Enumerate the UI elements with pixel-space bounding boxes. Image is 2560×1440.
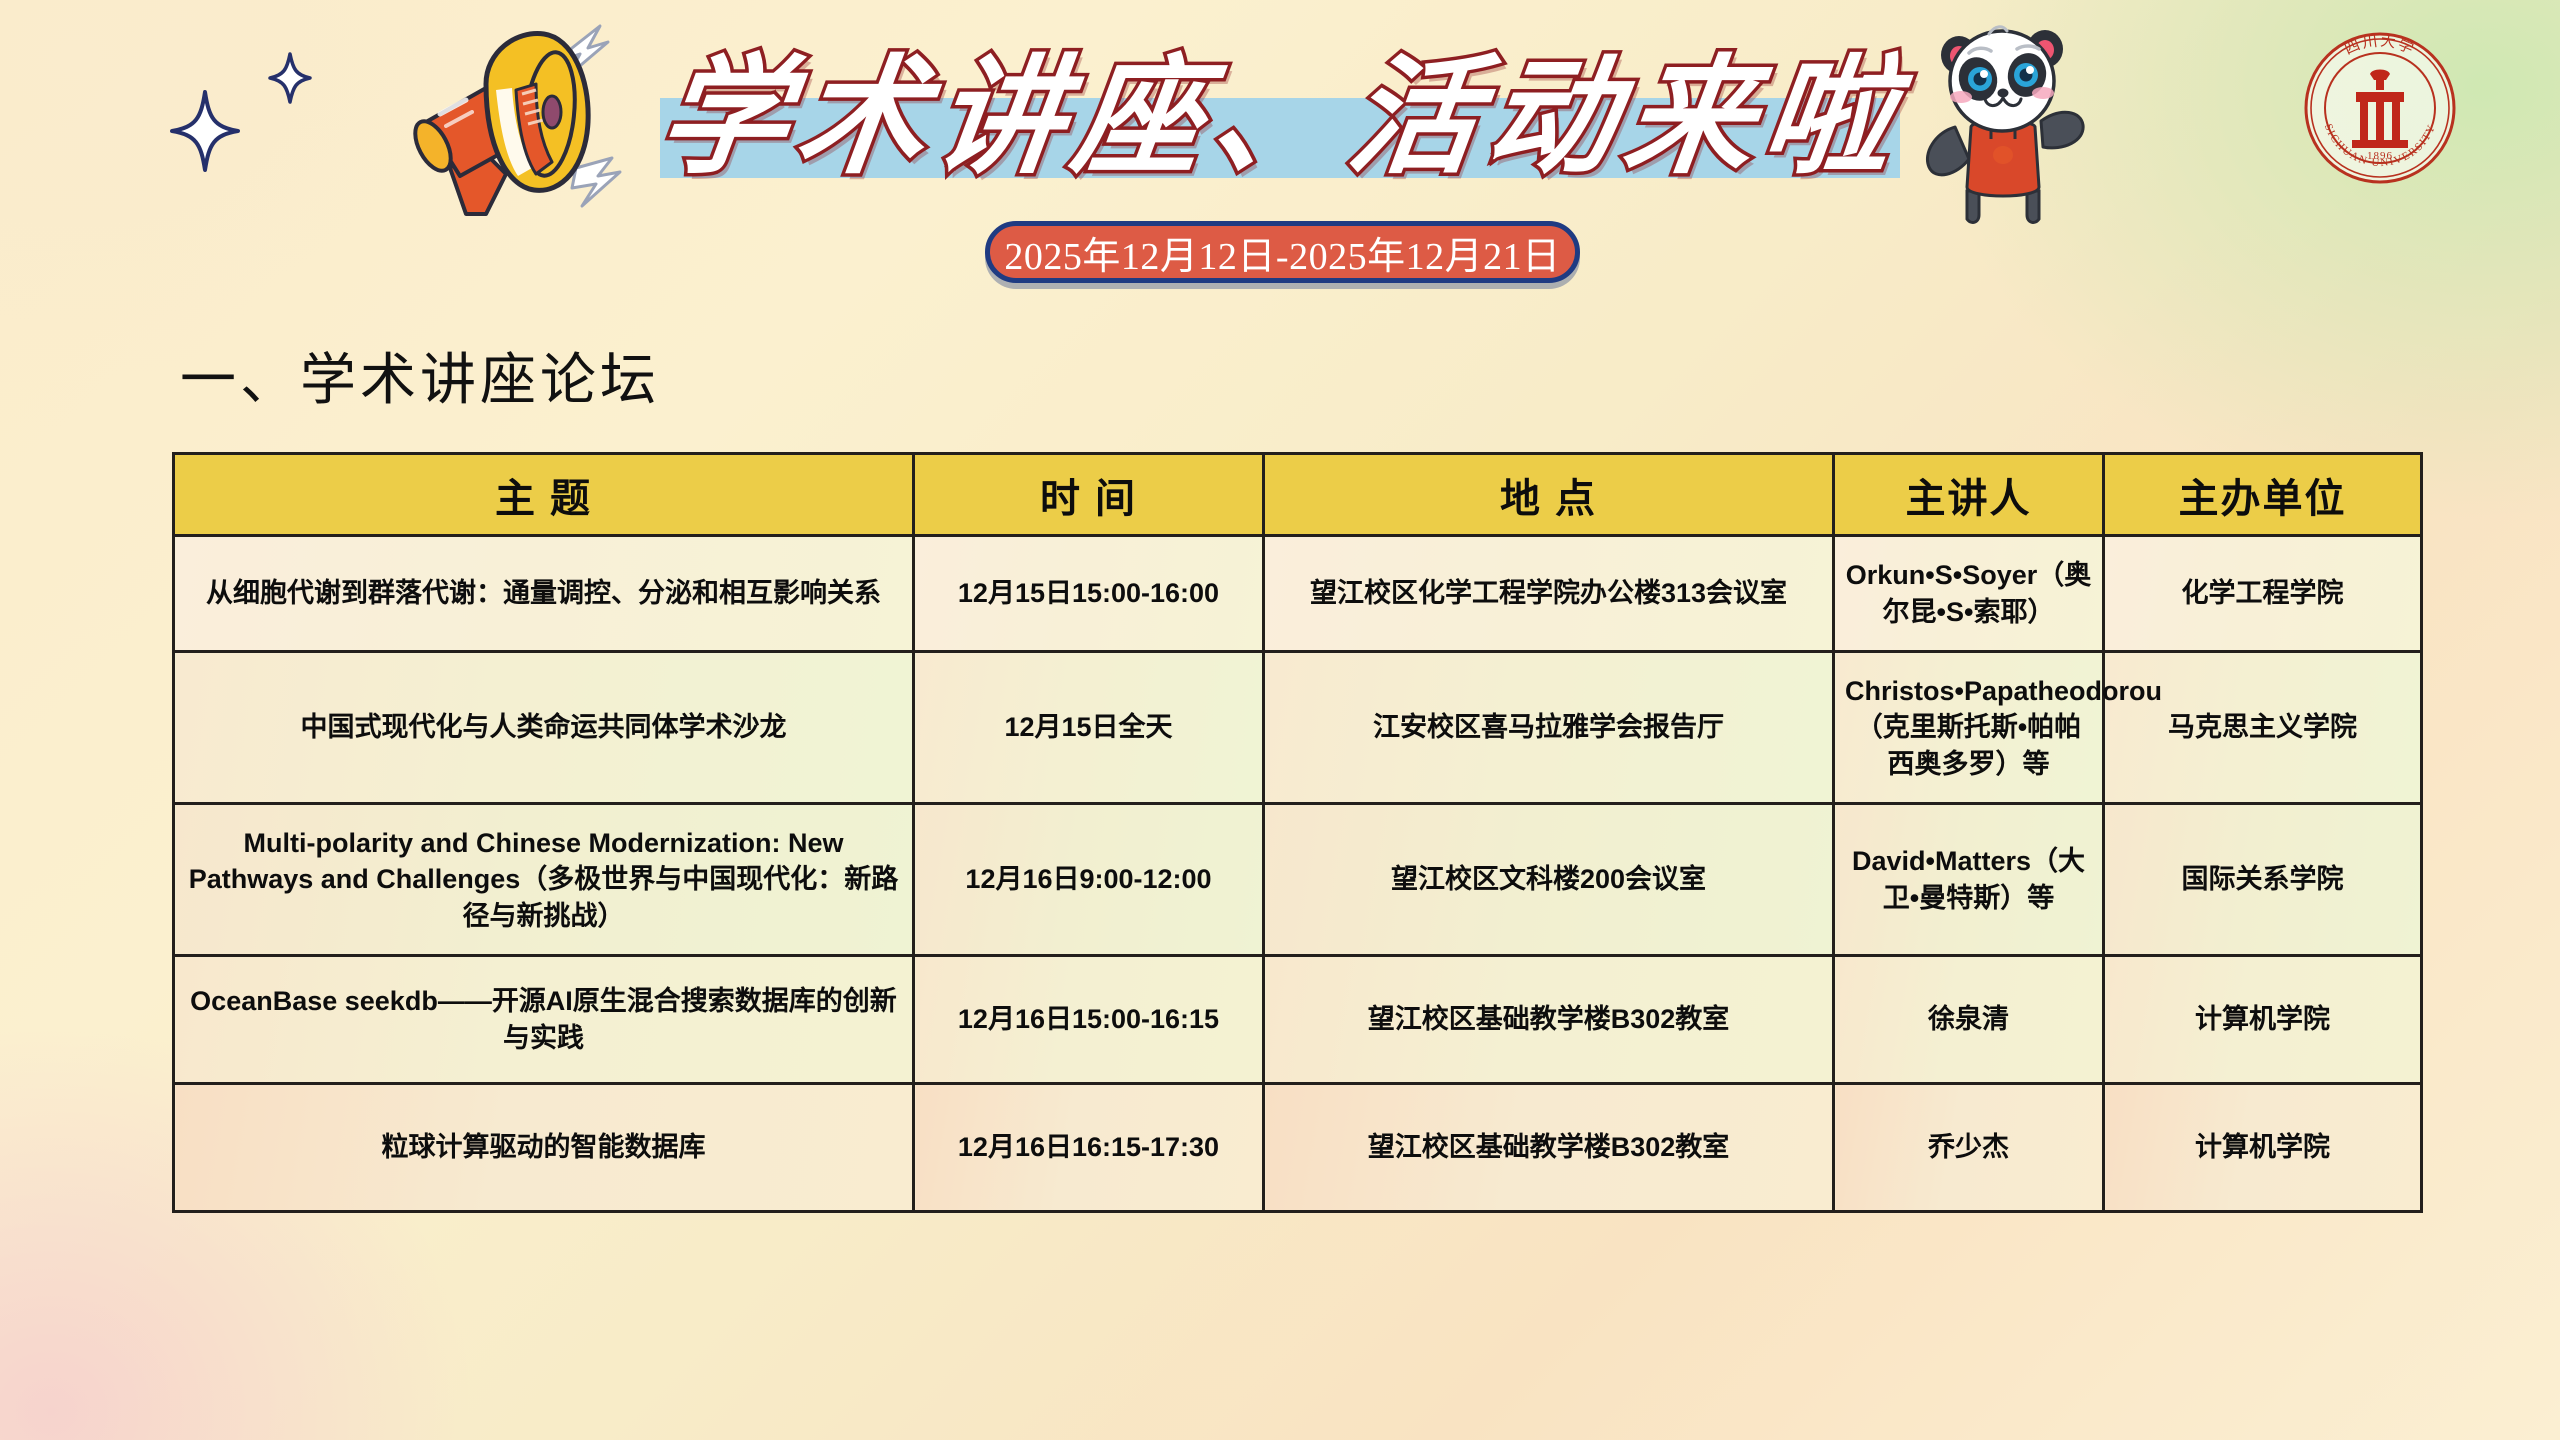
- cell-topic: 粒球计算驱动的智能数据库: [174, 1084, 914, 1212]
- cell-speaker: 徐泉清: [1834, 956, 2104, 1084]
- cell-speaker: David•Matters（大卫•曼特斯）等: [1834, 804, 2104, 956]
- cell-host: 化学工程学院: [2104, 536, 2422, 652]
- cell-host: 马克思主义学院: [2104, 652, 2422, 804]
- cell-time: 12月16日15:00-16:15: [914, 956, 1264, 1084]
- cell-speaker: Orkun•S•Soyer（奥尔昆•S•索耶）: [1834, 536, 2104, 652]
- cell-time: 12月16日16:15-17:30: [914, 1084, 1264, 1212]
- cell-host: 计算机学院: [2104, 956, 2422, 1084]
- megaphone-decoration: [300, 18, 660, 228]
- table-row: Multi-polarity and Chinese Modernization…: [174, 804, 2422, 956]
- cell-time: 12月16日9:00-12:00: [914, 804, 1264, 956]
- table-header-row: 主 题 时 间 地 点 主讲人 主办单位: [174, 454, 2422, 536]
- panda-mascot: [1915, 15, 2090, 230]
- cell-place: 望江校区文科楼200会议室: [1264, 804, 1834, 956]
- sichuan-university-logo-icon: 1896 四川大学 SICHUAN UNIVERSITY: [2300, 28, 2460, 188]
- section-heading: 一、学术讲座论坛: [180, 335, 660, 416]
- megaphone-icon: [300, 18, 660, 228]
- column-header-time: 时 间: [914, 454, 1264, 536]
- table-row: 从细胞代谢到群落代谢：通量调控、分泌和相互影响关系 12月15日15:00-16…: [174, 536, 2422, 652]
- cell-topic: Multi-polarity and Chinese Modernization…: [174, 804, 914, 956]
- date-range-badge: 2025年12月12日-2025年12月21日: [985, 221, 1580, 283]
- cell-topic: OceanBase seekdb——开源AI原生混合搜索数据库的创新与实践: [174, 956, 914, 1084]
- cell-speaker: Christos•Papatheodorou（克里斯托斯•帕帕西奥多罗）等: [1834, 652, 2104, 804]
- cell-host: 国际关系学院: [2104, 804, 2422, 956]
- lecture-schedule-table: 主 题 时 间 地 点 主讲人 主办单位 从细胞代谢到群落代谢：通量调控、分泌和…: [172, 452, 2423, 1213]
- cell-place: 望江校区基础教学楼B302教室: [1264, 956, 1834, 1084]
- date-range-text: 2025年12月12日-2025年12月21日: [1004, 225, 1560, 280]
- column-header-host: 主办单位: [2104, 454, 2422, 536]
- column-header-place: 地 点: [1264, 454, 1834, 536]
- sparkle-star-small-icon: [268, 52, 312, 104]
- cell-time: 12月15日15:00-16:00: [914, 536, 1264, 652]
- column-header-topic: 主 题: [174, 454, 914, 536]
- panda-mascot-icon: [1915, 15, 2090, 230]
- cell-place: 望江校区化学工程学院办公楼313会议室: [1264, 536, 1834, 652]
- cell-time: 12月15日全天: [914, 652, 1264, 804]
- table-row: 粒球计算驱动的智能数据库 12月16日16:15-17:30 望江校区基础教学楼…: [174, 1084, 2422, 1212]
- cell-place: 望江校区基础教学楼B302教室: [1264, 1084, 1834, 1212]
- table-row: 中国式现代化与人类命运共同体学术沙龙 12月15日全天 江安校区喜马拉雅学会报告…: [174, 652, 2422, 804]
- table-row: OceanBase seekdb——开源AI原生混合搜索数据库的创新与实践 12…: [174, 956, 2422, 1084]
- cell-topic: 中国式现代化与人类命运共同体学术沙龙: [174, 652, 914, 804]
- cell-topic: 从细胞代谢到群落代谢：通量调控、分泌和相互影响关系: [174, 536, 914, 652]
- cell-speaker: 乔少杰: [1834, 1084, 2104, 1212]
- cell-host: 计算机学院: [2104, 1084, 2422, 1212]
- page-header: 学术讲座、活动来啦 2025年12月12日-2025年12月21日: [0, 0, 2560, 330]
- column-header-speaker: 主讲人: [1834, 454, 2104, 536]
- sparkle-star-icon: [170, 90, 240, 172]
- cell-place: 江安校区喜马拉雅学会报告厅: [1264, 652, 1834, 804]
- university-logo: 1896 四川大学 SICHUAN UNIVERSITY: [2300, 28, 2460, 188]
- page-title: 学术讲座、活动来啦: [649, 30, 1911, 206]
